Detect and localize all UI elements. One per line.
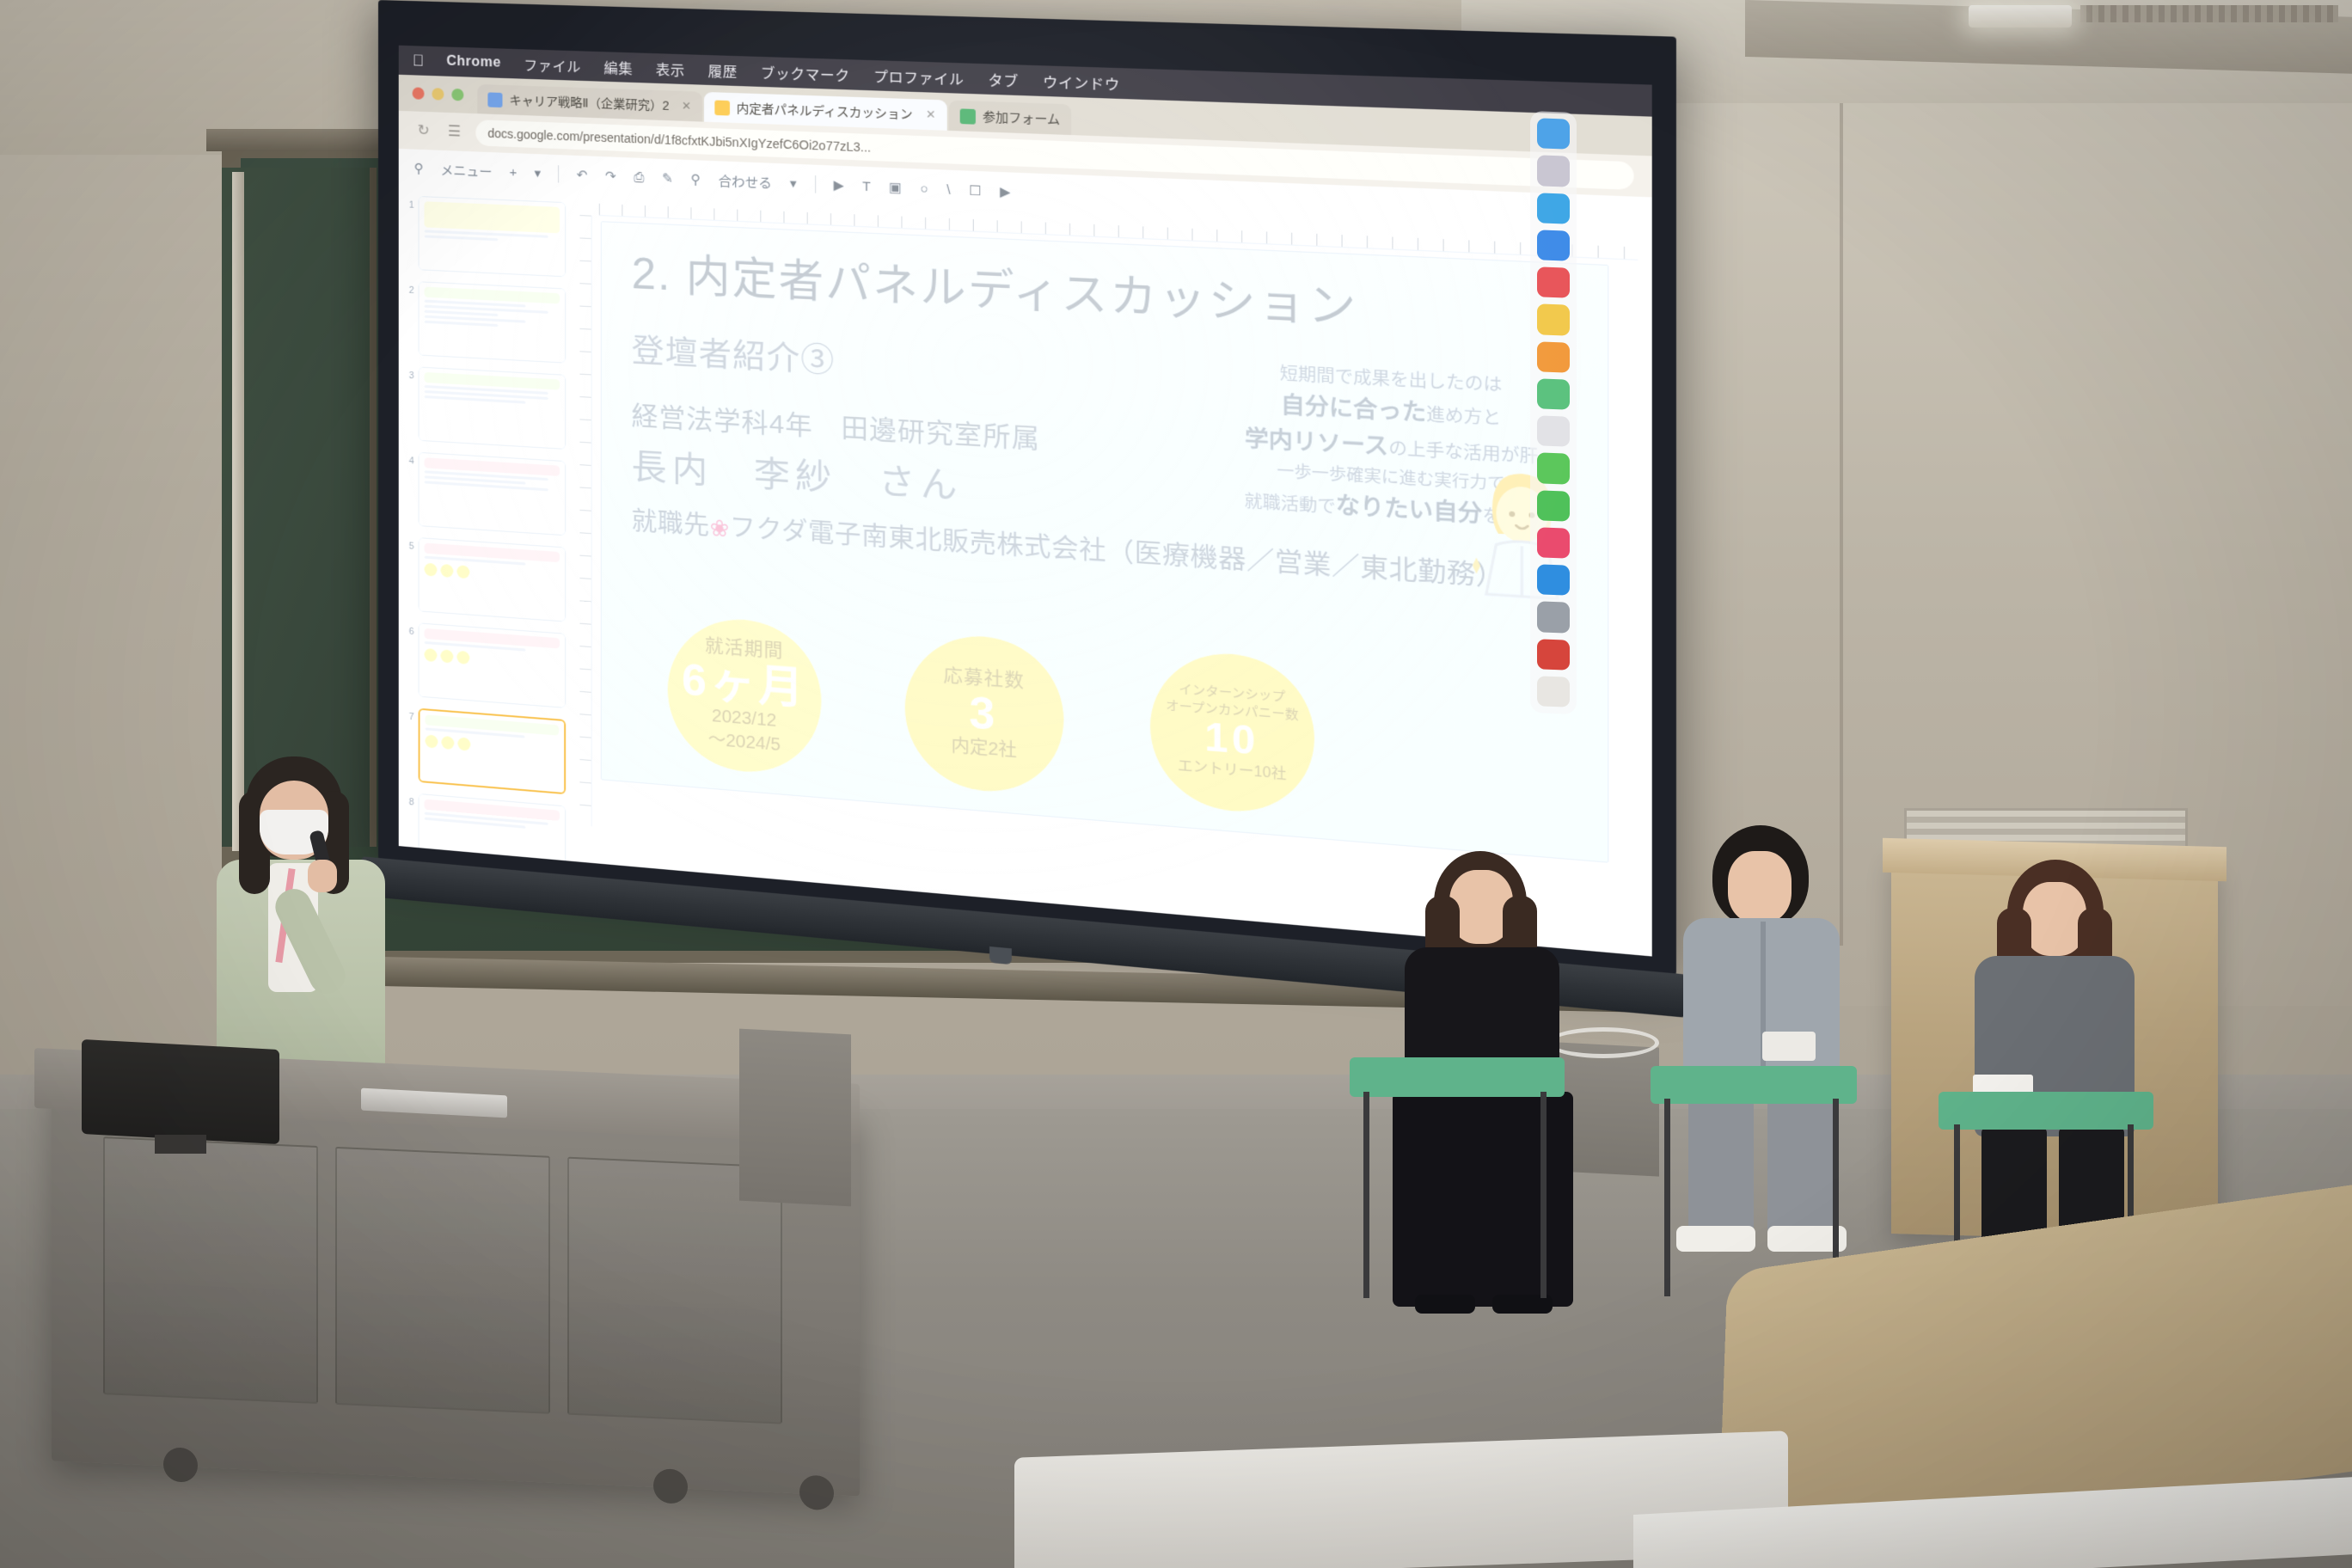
stat-circle-1: 就活期間 6ヶ月 2023/12 〜2024/5 [659, 614, 830, 778]
maximize-window-button[interactable] [451, 89, 463, 101]
tab-1-label: キャリア戦略Ⅱ（企業研究）2 [510, 91, 670, 114]
monitor-stand [155, 1135, 206, 1154]
thumb-dots [425, 648, 560, 671]
slide-canvas-area: 2. 内定者パネルディスカッション 登壇者紹介③ 経営法学科4年 田邊研究室所属… [571, 193, 1651, 956]
chair-leg [1363, 1092, 1369, 1298]
zoom-label[interactable]: 合わせる [719, 171, 772, 192]
search-icon[interactable]: ⚲ [414, 161, 424, 176]
menu-file[interactable]: ファイル [524, 53, 581, 76]
lectern-door-center[interactable] [335, 1147, 550, 1414]
mail-icon[interactable] [1537, 230, 1570, 261]
settings-icon[interactable] [1537, 602, 1570, 634]
slide-number: 4 [402, 451, 414, 467]
menu-view[interactable]: 表示 [656, 58, 685, 80]
thumb-dot [440, 649, 453, 663]
stat-1-sub1: 2023/12 [712, 705, 776, 732]
slide-number: 6 [402, 622, 414, 637]
apple-logo-icon[interactable]:  [413, 52, 425, 70]
filmstrip-item[interactable]: 5 [402, 536, 566, 622]
ceiling-vent-icon [2080, 5, 2338, 22]
menu-bookmarks[interactable]: ブックマーク [761, 61, 850, 85]
photos-icon[interactable] [1537, 415, 1570, 447]
stat-circle-body: 応募社数 3 内定2社 [905, 631, 1064, 797]
projected-browser-window:  Chrome ファイル 編集 表示 履歴 ブックマーク プロファイル タブ … [399, 46, 1652, 957]
thumb-dot [426, 734, 438, 748]
slide-thumbnail[interactable] [419, 622, 567, 708]
minimize-window-button[interactable] [432, 88, 444, 101]
thumb-dot [457, 737, 470, 750]
maps-icon[interactable] [1537, 378, 1570, 410]
chrome-icon[interactable] [1537, 676, 1570, 707]
panelist-2-papers [1762, 1032, 1816, 1061]
chair-leg [1664, 1099, 1670, 1296]
calendar-icon[interactable] [1537, 266, 1570, 298]
slide-thumbnail[interactable] [419, 196, 567, 277]
filmstrip-item-selected[interactable]: 7 [402, 707, 566, 794]
control-monitor[interactable] [82, 1039, 279, 1144]
slide-thumbnail[interactable] [419, 537, 567, 622]
menu-profile[interactable]: プロファイル [873, 64, 964, 89]
text-box-icon[interactable]: T [862, 179, 871, 194]
reload-icon[interactable]: ↻ [414, 121, 433, 141]
ceiling-light-icon [1969, 5, 2072, 28]
thumb-dot [425, 648, 438, 662]
filmstrip-item[interactable]: 1 [402, 195, 566, 277]
menu-chrome[interactable]: Chrome [446, 54, 501, 71]
select-cursor-icon[interactable]: ▶ [834, 177, 844, 193]
thumb-line [425, 481, 549, 491]
caster-wheel [653, 1468, 688, 1504]
active-slide[interactable]: 2. 内定者パネルディスカッション 登壇者紹介③ 経営法学科4年 田邊研究室所属… [601, 221, 1609, 863]
stat-2-sub1: 内定2社 [951, 736, 1016, 763]
screen-pull-knob[interactable] [989, 946, 1012, 965]
stat-circle-2: 応募社数 3 内定2社 [897, 630, 1072, 798]
thumb-dots [425, 563, 560, 585]
note-line-2-rest: 進め方と [1426, 406, 1501, 429]
slides-icon [714, 100, 730, 115]
toolbar-divider [558, 165, 559, 182]
menu-tab[interactable]: タブ [988, 69, 1019, 91]
panelist-2-face [1728, 851, 1792, 923]
chair-2-seat [1651, 1066, 1857, 1104]
filmstrip-item[interactable]: 4 [402, 451, 566, 536]
filmstrip-item[interactable]: 3 [402, 365, 566, 449]
thumb-dot [456, 651, 469, 665]
messages-icon[interactable] [1537, 453, 1570, 485]
slides-editor-body: 1 2 [399, 187, 1652, 957]
chair-3-seat [1939, 1092, 2153, 1130]
chair-leg [1540, 1092, 1547, 1298]
stat-circle-3: インターンシップ オープンカンパニー数 10 エントリー10社 [1142, 647, 1323, 818]
thumb-dot [425, 563, 438, 577]
music-icon[interactable] [1537, 527, 1570, 559]
slides-menu-label[interactable]: メニュー [440, 160, 492, 181]
zoom-icon[interactable]: ⚲ [691, 171, 701, 187]
chevron-down-icon[interactable]: ▾ [790, 175, 797, 192]
thumb-dots [426, 734, 560, 758]
slide-thumbnail-active[interactable] [419, 708, 567, 795]
browser-tab-3[interactable]: 参加フォーム [948, 101, 1071, 136]
slide-number: 1 [402, 195, 414, 211]
filmstrip-item[interactable]: 6 [402, 622, 566, 708]
close-icon[interactable]: ✕ [682, 99, 691, 113]
toolbar-divider [815, 175, 816, 193]
presenter-hand [308, 860, 337, 892]
slide-thumbnail[interactable] [419, 281, 567, 363]
note-line-5-pre: 就職活動で [1244, 493, 1335, 518]
notes-icon[interactable] [1537, 304, 1570, 336]
caster-wheel [799, 1474, 834, 1510]
close-window-button[interactable] [413, 87, 425, 100]
stat-1-sub2: 〜2024/5 [707, 729, 780, 756]
chevron-down-icon[interactable]: ▾ [535, 165, 542, 181]
undo-icon[interactable]: ↶ [577, 167, 588, 183]
side-cabinet [739, 1029, 851, 1207]
slide-title: 2. 内定者パネルディスカッション [632, 246, 1358, 336]
url-text: docs.google.com/presentation/d/1f8cfxtKJ… [487, 126, 871, 155]
thumb-line [425, 235, 499, 241]
vertical-ruler [579, 215, 591, 826]
note-line-2-bold: 自分に合った [1281, 393, 1426, 426]
filmstrip-item[interactable]: 2 [402, 280, 566, 363]
employment-prefix: 就職先 [632, 507, 710, 540]
slide-number: 3 [402, 365, 414, 381]
slide-filmstrip[interactable]: 1 2 [399, 187, 572, 865]
slide-number: 2 [402, 280, 414, 296]
pdf-icon[interactable] [1537, 639, 1570, 671]
stat-circle-body: インターンシップ オープンカンパニー数 10 エントリー10社 [1150, 648, 1314, 818]
slide-number: 7 [402, 707, 414, 722]
macos-dock[interactable] [1530, 111, 1577, 714]
window-controls[interactable] [407, 75, 476, 113]
slide-thumbnail[interactable] [419, 452, 567, 536]
thumb-band [425, 201, 560, 233]
tab-3-label: 参加フォーム [983, 107, 1060, 128]
chalkboard-panel-edge [232, 172, 244, 851]
note-line-5-bold: なりたい自分 [1336, 493, 1483, 527]
insert-image-icon[interactable]: ▣ [889, 179, 902, 195]
sheets-icon [959, 108, 975, 124]
reminders-icon[interactable] [1537, 341, 1570, 373]
comment-icon[interactable]: ☐ [969, 182, 981, 199]
stat-circle-body: 就活期間 6ヶ月 2023/12 〜2024/5 [668, 615, 822, 778]
site-info-icon[interactable]: ☰ [444, 122, 463, 142]
chair-1-seat [1350, 1057, 1565, 1097]
caster-wheel [163, 1447, 198, 1483]
menu-window[interactable]: ウインドウ [1043, 70, 1120, 95]
classroom-scene:  Chrome ファイル 編集 表示 履歴 ブックマーク プロファイル タブ … [0, 0, 2352, 1568]
launchpad-icon[interactable] [1537, 156, 1570, 187]
wall-seam [1840, 103, 1843, 946]
stat-3-value: 10 [1204, 718, 1259, 762]
redo-icon[interactable]: ↷ [605, 168, 616, 184]
sakura-icon: ❀ [710, 514, 730, 542]
note-line-3-bold: 学内リソース [1245, 426, 1388, 460]
slide-thumbnail[interactable] [419, 367, 567, 450]
close-icon[interactable]: ✕ [926, 107, 936, 122]
lectern-door-left[interactable] [103, 1136, 318, 1404]
stat-1-value: 6ヶ月 [682, 657, 806, 710]
safari-icon[interactable] [1537, 193, 1570, 224]
thumb-dot [440, 564, 453, 578]
print-icon[interactable]: ⎙ [634, 169, 644, 185]
chair-1[interactable] [1350, 1057, 1565, 1341]
menu-edit[interactable]: 編集 [603, 56, 633, 78]
stat-circles: 就活期間 6ヶ月 2023/12 〜2024/5 応募社数 3 [659, 614, 1323, 818]
thumb-dot [456, 565, 469, 579]
stat-3-sub1: エントリー10社 [1178, 757, 1286, 784]
shape-icon[interactable]: ○ [920, 181, 928, 196]
plus-icon[interactable]: + [510, 165, 518, 181]
paint-format-icon[interactable]: ✎ [662, 170, 673, 187]
chalkboard-sliding-panel [222, 168, 377, 847]
thumb-dot [441, 736, 454, 750]
thumb-line [425, 321, 499, 327]
docs-icon [487, 92, 502, 107]
panelist-3-face [2023, 882, 2086, 956]
present-icon[interactable]: ▶ [1000, 184, 1010, 200]
slide-number: 5 [402, 536, 414, 552]
tab-2-label: 内定者パネルディスカッション [737, 99, 913, 123]
facetime-icon[interactable] [1537, 490, 1570, 522]
menu-history[interactable]: 履歴 [708, 59, 738, 82]
line-icon[interactable]: \ [946, 182, 950, 198]
finder-icon[interactable] [1537, 118, 1570, 150]
stat-2-value: 3 [970, 690, 999, 738]
appstore-icon[interactable] [1537, 564, 1570, 596]
